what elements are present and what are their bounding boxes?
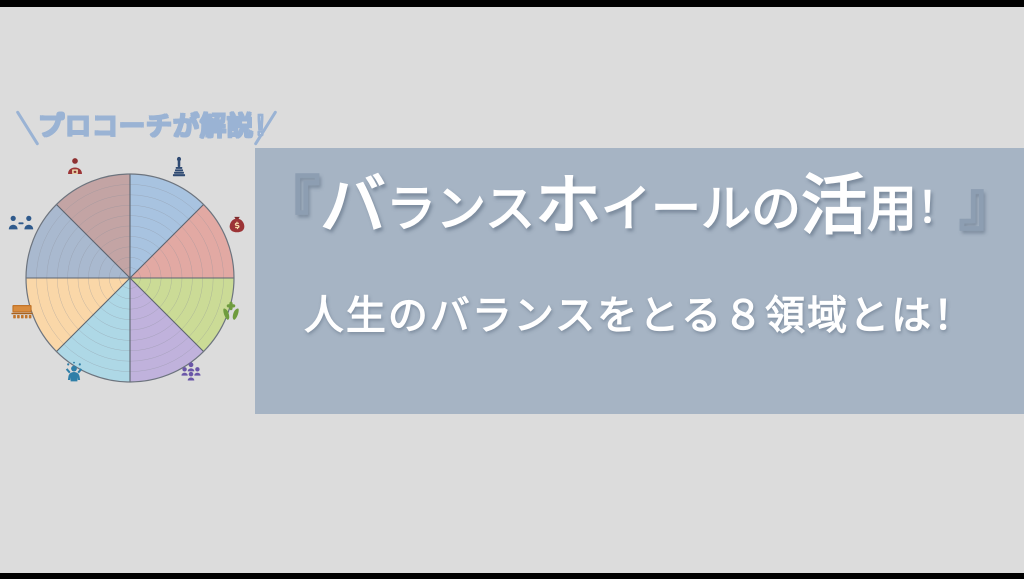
title-exclamation: ！ bbox=[917, 184, 959, 231]
health-hands-icon bbox=[218, 298, 244, 324]
page-subtitle: 人生のバランスをとる８領域とは！ bbox=[255, 296, 1024, 336]
wheel-svg bbox=[18, 166, 242, 390]
trophy-icon bbox=[166, 154, 192, 180]
letterbox-bar-bottom bbox=[0, 573, 1024, 579]
balance-wheel-chart bbox=[18, 166, 242, 390]
left-slash-decoration bbox=[16, 110, 40, 146]
title-part-2: ランス bbox=[386, 181, 535, 237]
wheel-spoke-lines bbox=[26, 174, 234, 382]
letterbox-bar-top bbox=[0, 0, 1024, 7]
desk-learning-icon bbox=[9, 299, 35, 325]
kicker-label: プロコーチが解説！ bbox=[38, 106, 281, 143]
title-part-3: ホ bbox=[535, 168, 601, 242]
money-bag-icon bbox=[224, 211, 250, 237]
title-part-4: イールの bbox=[601, 181, 801, 237]
celebrate-icon bbox=[61, 359, 87, 385]
kicker-group: プロコーチが解説！ bbox=[14, 104, 284, 148]
title-close-bracket: 』 bbox=[959, 172, 1017, 237]
page-title: 『バランスホイールの活用！』 bbox=[255, 172, 1024, 238]
people-group-icon bbox=[178, 358, 204, 384]
title-banner-panel: 『バランスホイールの活用！』 人生のバランスをとる８領域とは！ bbox=[255, 148, 1024, 414]
person-work-icon bbox=[62, 154, 88, 180]
poster-canvas: プロコーチが解説！ bbox=[0, 0, 1024, 579]
title-part-5: 活 bbox=[801, 168, 867, 242]
title-open-bracket: 『 bbox=[262, 172, 320, 237]
two-people-icon bbox=[8, 211, 34, 237]
title-part-1: バ bbox=[320, 168, 386, 242]
title-part-6: 用 bbox=[867, 181, 917, 237]
